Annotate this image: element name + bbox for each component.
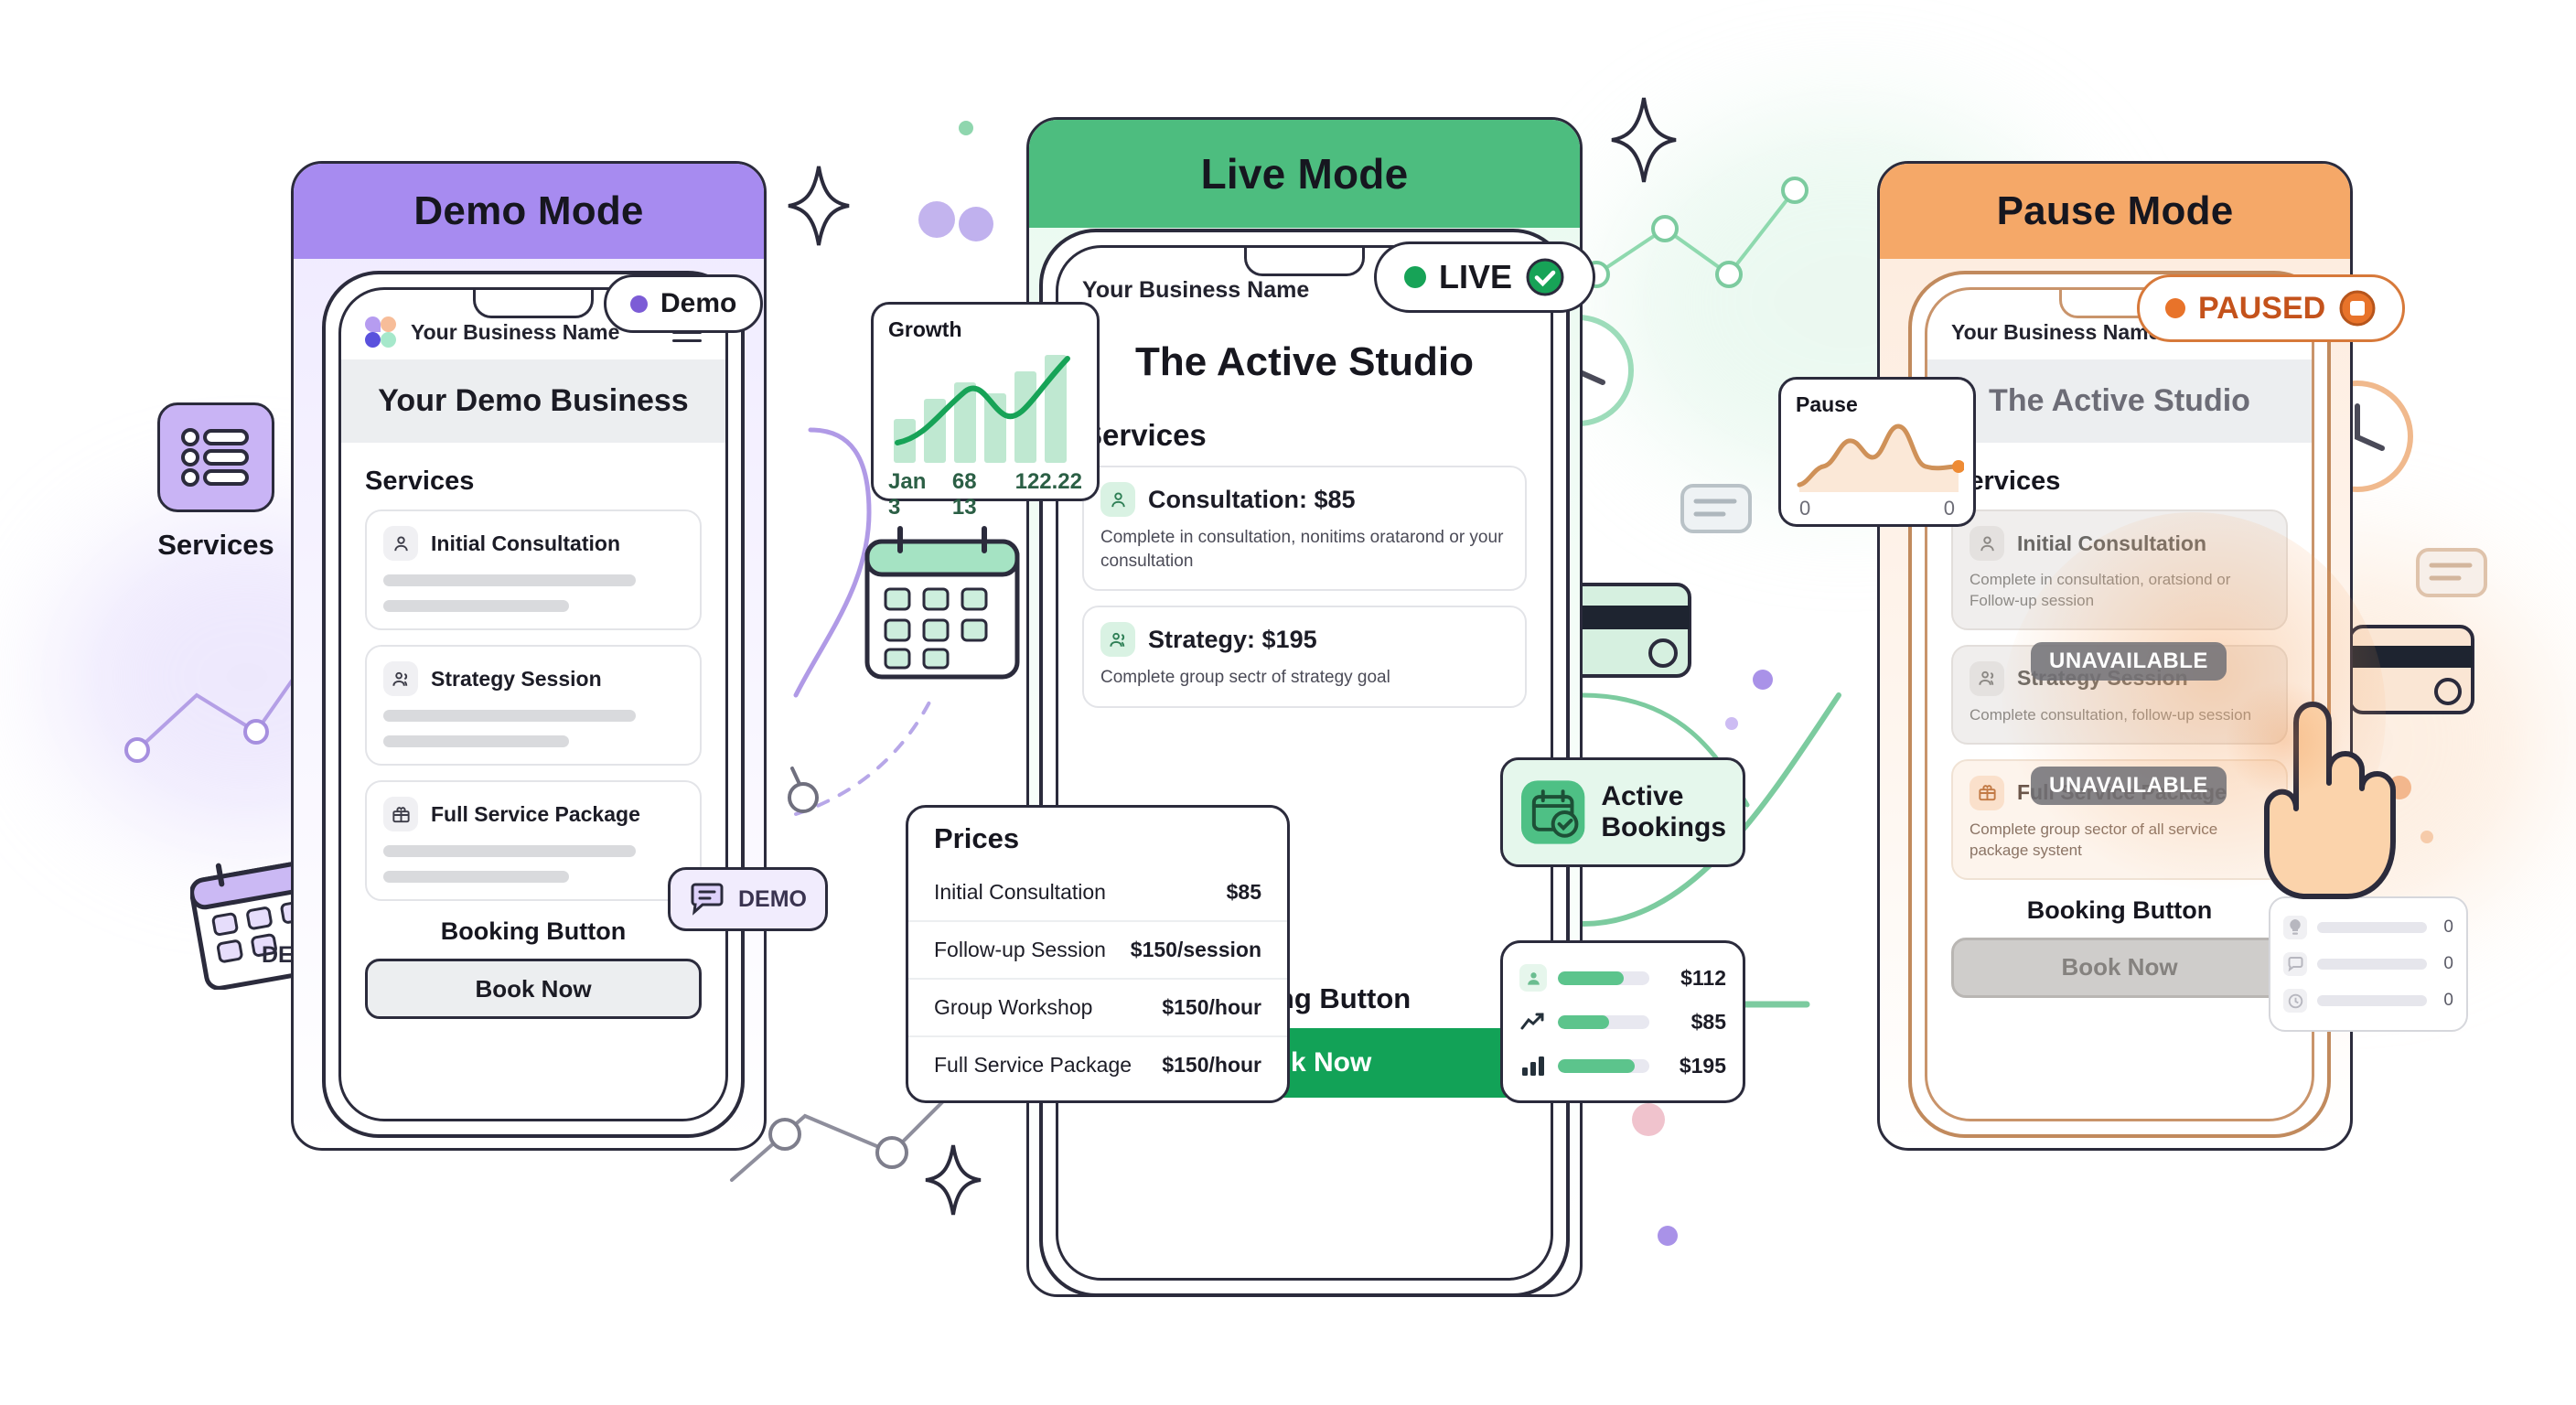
people-icon (1100, 622, 1135, 657)
chart-tick-1: 68 13 (952, 469, 1001, 520)
service-desc: Complete in consultation, oratsiond or F… (1970, 570, 2270, 612)
badge-label: Demo (660, 288, 736, 319)
active-bookings-card[interactable]: Active Bookings (1500, 757, 1745, 867)
service-name: Consultation: $85 (1148, 486, 1356, 514)
price-value: $150/session (1131, 938, 1261, 962)
price-name: Full Service Package (934, 1053, 1132, 1078)
illustration-stage: DEMO Services Demo Mode Your Business Na… (0, 0, 2576, 1405)
progress-bar (1558, 1059, 1649, 1073)
list-icon (179, 425, 252, 489)
service-card-demo-0[interactable]: Initial Consultation (365, 509, 702, 630)
service-name: Strategy Session (431, 667, 602, 692)
price-name: Follow-up Session (934, 938, 1106, 962)
price-name: Initial Consultation (934, 880, 1106, 905)
price-value: $150/hour (1162, 995, 1261, 1020)
panel-pause-title: Pause Mode (1880, 164, 2350, 259)
price-name: Group Workshop (934, 995, 1092, 1020)
sparkle-icon (1610, 96, 1678, 184)
progress-bar (2317, 922, 2427, 933)
service-card-live-1[interactable]: Strategy: $195 Complete group sectr of s… (1082, 606, 1527, 708)
stat-value: $195 (1660, 1054, 1726, 1078)
unavailable-badge-0: UNAVAILABLE (2031, 642, 2227, 681)
stop-circle-icon (2338, 289, 2377, 327)
active-bookings-label-1: Active (1601, 781, 1683, 811)
growth-chart (888, 348, 1088, 463)
sparkle-icon (787, 165, 851, 247)
decor-dot (1725, 717, 1738, 730)
business-name-pause: Your Business Name (1951, 320, 2160, 345)
decor-dot (1658, 1226, 1678, 1246)
prices-title: Prices (908, 815, 1287, 864)
service-card-pause-0[interactable]: Initial Consultation Complete in consult… (1951, 509, 2288, 630)
hero-title-live: The Active Studio (1058, 317, 1551, 394)
gift-icon (1970, 776, 2004, 810)
book-now-button-demo[interactable]: Book Now (365, 959, 702, 1019)
list-value: 0 (2437, 991, 2453, 1011)
skeleton-line (383, 574, 636, 586)
trend-up-icon (1519, 1008, 1547, 1035)
growth-chart-card: Growth Jan 3 68 13 122.22 (871, 302, 1100, 501)
calendar-icon (860, 521, 1025, 686)
services-tile-caption: Services (128, 529, 304, 562)
people-icon (383, 661, 418, 696)
person-icon (1100, 482, 1135, 517)
clock-icon (2283, 989, 2307, 1013)
services-heading-demo: Services (341, 443, 725, 509)
stat-row: $85 (1518, 1000, 1728, 1044)
chart-title-pause: Pause (1796, 392, 1959, 417)
badge-pause-mode[interactable]: PAUSED (2137, 274, 2405, 342)
chat-icon (689, 881, 725, 917)
people-icon (1970, 661, 2004, 696)
list-value: 0 (2437, 954, 2453, 974)
decor-dot (959, 121, 973, 135)
status-dot (630, 295, 648, 313)
bar-chart-icon (1519, 1052, 1547, 1079)
business-name-live: Your Business Name (1082, 277, 1309, 304)
stat-value: $112 (1660, 966, 1726, 991)
list-value: 0 (2437, 917, 2453, 938)
decor-dot (959, 207, 993, 241)
pause-chart-card: Pause 0 0 (1778, 377, 1976, 527)
progress-bar (1558, 1015, 1649, 1029)
progress-bar (2317, 959, 2427, 970)
mini-list-card: 0 0 0 (2269, 896, 2468, 1032)
price-row: Follow-up Session $150/session (908, 920, 1287, 978)
chip-demo[interactable]: DEMO (668, 867, 828, 931)
price-row: Full Service Package $150/hour (908, 1035, 1287, 1093)
chart-title-growth: Growth (888, 317, 1082, 342)
services-heading-live: Services (1058, 394, 1551, 466)
skeleton-line (383, 845, 636, 857)
hero-title-pause: The Active Studio (1927, 359, 2312, 443)
service-desc: Complete consultation, follow-up session (1970, 705, 2270, 726)
service-desc: Complete group sectr of strategy goal (1100, 666, 1508, 690)
skeleton-line (383, 600, 569, 612)
calendar-check-icon (1519, 778, 1586, 846)
phone-live-screen: Your Business Name The Active Studio Ser… (1056, 245, 1553, 1281)
skeleton-line (383, 710, 636, 722)
status-dot (1404, 266, 1426, 288)
chat-icon (2415, 547, 2488, 606)
price-row: Initial Consultation $85 (908, 864, 1287, 920)
stat-row: $195 (1518, 1044, 1728, 1088)
gift-icon (383, 797, 418, 831)
service-card-demo-2[interactable]: Full Service Package (365, 780, 702, 901)
price-value: $150/hour (1162, 1053, 1261, 1078)
prices-card: Prices Initial Consultation $85 Follow-u… (906, 805, 1290, 1103)
lightbulb-icon (2283, 916, 2307, 939)
sparkle-icon (924, 1143, 982, 1217)
phone-demo: Your Business Name Your Demo Business Se… (322, 271, 745, 1138)
chart-tick-0: Jan 3 (888, 469, 938, 520)
service-desc: Complete group sector of all service pac… (1970, 820, 2270, 862)
tap-ripple (2225, 681, 2344, 799)
service-name: Strategy: $195 (1148, 626, 1317, 654)
skeleton-line (383, 735, 569, 747)
price-row: Group Workshop $150/hour (908, 978, 1287, 1035)
chip-label: DEMO (738, 886, 807, 913)
stat-value: $85 (1660, 1010, 1726, 1035)
progress-bar (2317, 995, 2427, 1006)
service-desc: Complete in consultation, nonitims orata… (1100, 526, 1508, 573)
decor-dot (1753, 670, 1773, 690)
chat-icon (1680, 483, 1753, 542)
decor-dot (918, 201, 955, 238)
person-icon (1519, 964, 1547, 992)
decor-dot (1632, 1103, 1665, 1136)
check-circle-icon (1525, 257, 1565, 297)
chart-tick-2: 122.22 (1015, 469, 1082, 520)
active-bookings-label-2: Bookings (1601, 812, 1726, 842)
list-item: 0 (2283, 909, 2453, 946)
service-name: Full Service Package (431, 802, 640, 827)
stats-card: $112 $85 $195 (1500, 940, 1745, 1103)
skeleton-line (383, 871, 569, 883)
price-value: $85 (1227, 880, 1261, 905)
person-icon (383, 526, 418, 561)
list-item: 0 (2283, 946, 2453, 982)
badge-demo-mode[interactable]: Demo (604, 274, 763, 333)
panel-live-title: Live Mode (1029, 120, 1580, 228)
book-now-button-pause: Book Now (1951, 938, 2288, 998)
panel-demo-title: Demo Mode (294, 164, 764, 259)
phone-demo-screen: Your Business Name Your Demo Business Se… (338, 287, 728, 1121)
service-card-live-0[interactable]: Consultation: $85 Complete in consultati… (1082, 466, 1527, 591)
progress-bar (1558, 971, 1649, 985)
badge-label: PAUSED (2198, 291, 2325, 327)
badge-label: LIVE (1439, 258, 1512, 296)
pause-chart-tick-1: 0 (1944, 497, 1955, 520)
decor-dot (2420, 831, 2433, 843)
cta-label-demo: Booking Button (341, 917, 725, 946)
brand-logo-icon (365, 316, 396, 348)
stat-row: $112 (1518, 956, 1728, 1000)
unavailable-badge-1: UNAVAILABLE (2031, 767, 2227, 805)
services-tile[interactable] (157, 402, 274, 512)
phone-notch (1244, 245, 1365, 276)
person-icon (1970, 526, 2004, 561)
services-heading-pause: Services (1927, 443, 2312, 509)
status-dot (2165, 298, 2185, 318)
service-card-demo-1[interactable]: Strategy Session (365, 645, 702, 766)
pause-chart (1796, 421, 1964, 492)
phone-notch (473, 287, 594, 318)
list-item: 0 (2283, 982, 2453, 1019)
hero-title-demo: Your Demo Business (341, 359, 725, 443)
service-name: Initial Consultation (2017, 531, 2206, 556)
chat-icon (2283, 952, 2307, 976)
badge-live-mode[interactable]: LIVE (1374, 241, 1595, 313)
pause-chart-tick-0: 0 (1799, 497, 1810, 520)
business-name-demo: Your Business Name (411, 320, 619, 345)
phone-live: Your Business Name The Active Studio Ser… (1039, 229, 1570, 1297)
service-name: Initial Consultation (431, 531, 620, 556)
